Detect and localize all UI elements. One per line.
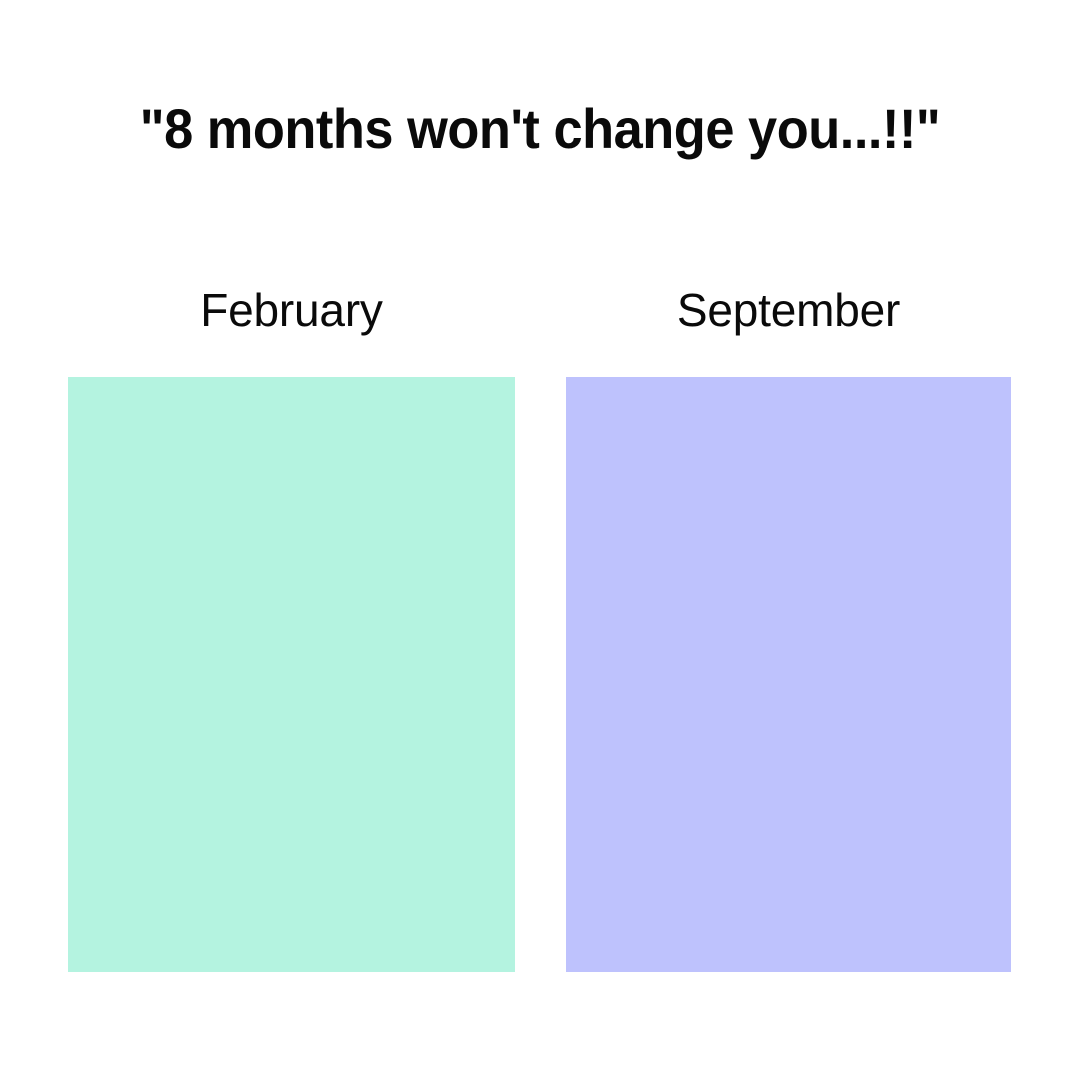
meme-title: "8 months won't change you...!!" [35,101,1045,157]
panel-label-september: September [566,287,1011,333]
comparison-panel-february: February [68,287,515,972]
comparison-panel-september: September [566,287,1011,972]
panel-image-february [68,377,515,972]
comparison-row: February September [68,287,1011,972]
meme-canvas: "8 months won't change you...!!" Februar… [0,0,1080,1080]
panel-image-september [566,377,1011,972]
panel-label-february: February [68,287,515,333]
